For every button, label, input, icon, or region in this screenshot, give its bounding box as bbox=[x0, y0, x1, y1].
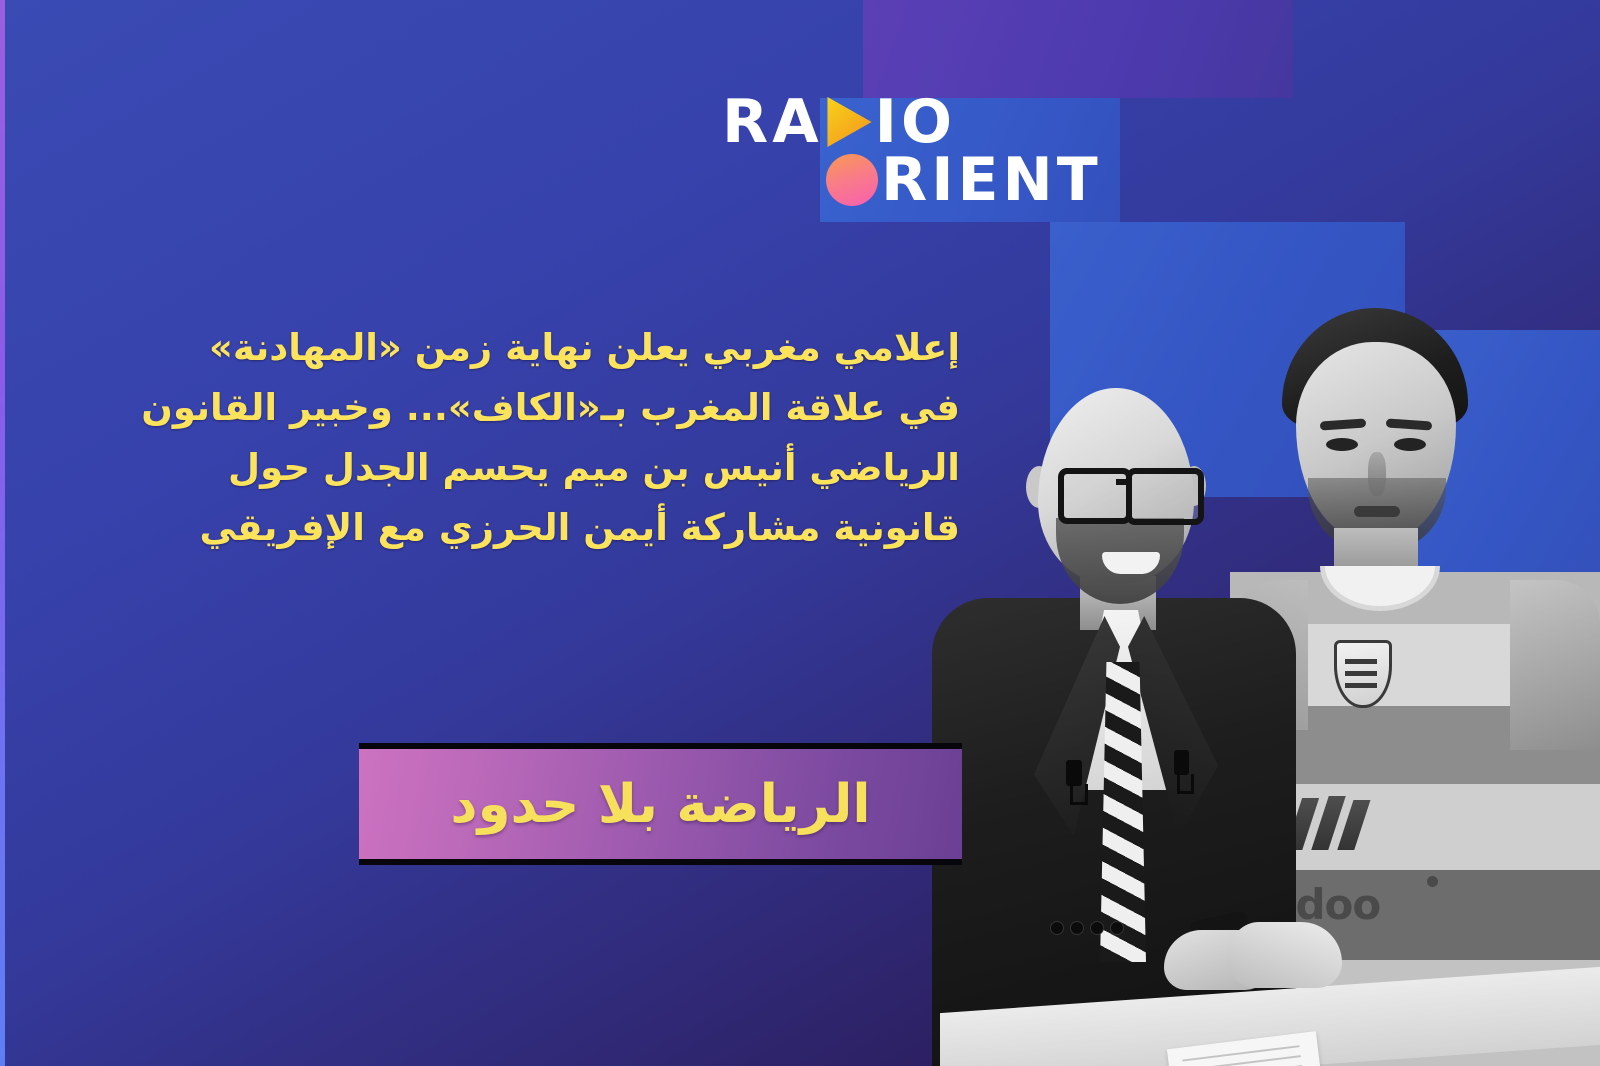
athlete-mouth bbox=[1354, 506, 1400, 517]
athlete-eye-left bbox=[1326, 438, 1358, 451]
headline-line-4: قانونية مشاركة أيمن الحرزي مع الإفريقي bbox=[220, 498, 960, 558]
athlete-nose bbox=[1368, 452, 1386, 496]
host-eyeglasses-bridge bbox=[1116, 479, 1132, 485]
poster-canvas: edoo RA IO bbox=[0, 0, 1600, 1066]
athlete-eye-right bbox=[1394, 438, 1426, 451]
logo-text-io: IO bbox=[875, 92, 956, 152]
background-block-purple bbox=[863, 0, 1293, 98]
host-necktie bbox=[1100, 662, 1146, 962]
radio-orient-logo[interactable]: RA IO RIENT bbox=[722, 92, 1072, 217]
logo-line-two: RIENT bbox=[826, 150, 1102, 210]
host-eyeglasses-right-lens bbox=[1126, 468, 1204, 525]
logo-line-one: RA IO bbox=[722, 92, 956, 152]
show-title-text: الرياضة بلا حدود bbox=[450, 774, 870, 835]
suit-sleeve-buttons bbox=[1050, 920, 1130, 934]
play-triangle-icon bbox=[826, 96, 872, 148]
article-headline: إعلامي مغربي يعلن نهاية زمن «المهادنة» ف… bbox=[220, 318, 960, 558]
logo-text-rient: RIENT bbox=[881, 150, 1102, 210]
athlete-shoulder-right bbox=[1510, 580, 1600, 750]
host-hand-right bbox=[1230, 922, 1342, 988]
guests-photo: edoo bbox=[930, 280, 1600, 1066]
microphone-clip-left bbox=[1070, 784, 1088, 805]
lapel-microphone-right bbox=[1174, 750, 1189, 775]
jersey-sponsor-dot bbox=[1427, 876, 1438, 887]
show-title-banner[interactable]: الرياضة بلا حدود bbox=[359, 743, 962, 865]
lapel-microphone-left bbox=[1066, 760, 1082, 786]
host-smile bbox=[1102, 552, 1160, 574]
headline-line-3: الرياضي أنيس بن ميم يحسم الجدل حول bbox=[220, 438, 960, 498]
microphone-clip-right bbox=[1177, 774, 1194, 794]
headline-line-1: إعلامي مغربي يعلن نهاية زمن «المهادنة» bbox=[220, 318, 960, 378]
circle-dot-icon bbox=[826, 154, 878, 206]
headline-line-2: في علاقة المغرب بـ«الكاف»... وخبير القان… bbox=[220, 378, 960, 438]
host-eyeglasses-left-lens bbox=[1058, 468, 1132, 524]
logo-text-ra: RA bbox=[722, 92, 823, 152]
left-accent-strip bbox=[0, 0, 5, 1066]
